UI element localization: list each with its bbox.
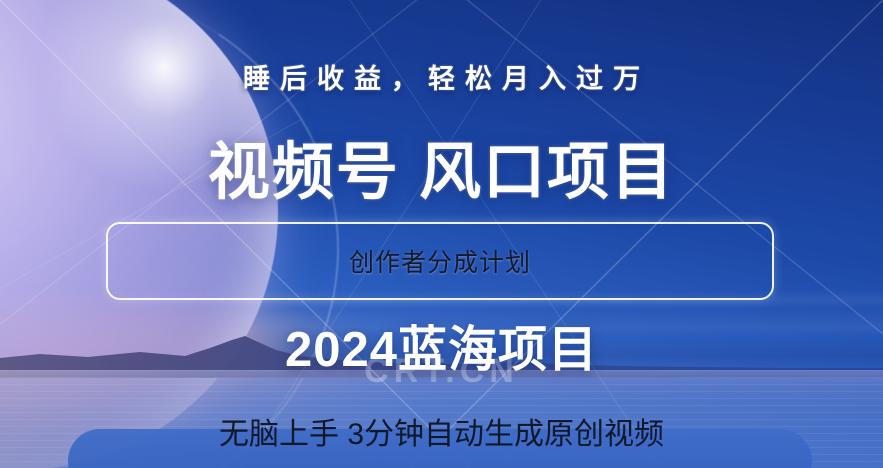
bottom-caption-text: 无脑上手 3分钟自动生成原创视频: [0, 420, 883, 450]
subtitle-box-label: 创作者分成计划: [108, 224, 772, 298]
big-headline-2024: 2024蓝海项目: [0, 326, 883, 375]
headline-text: 视频号 风口项目: [0, 142, 883, 204]
poster-canvas: 睡后收益，轻松月入过万 视频号 风口项目 创作者分成计划 CRT.CN 2024…: [0, 0, 883, 468]
tagline-text: 睡后收益，轻松月入过万: [0, 57, 883, 96]
subtitle-box: 创作者分成计划: [106, 222, 774, 300]
